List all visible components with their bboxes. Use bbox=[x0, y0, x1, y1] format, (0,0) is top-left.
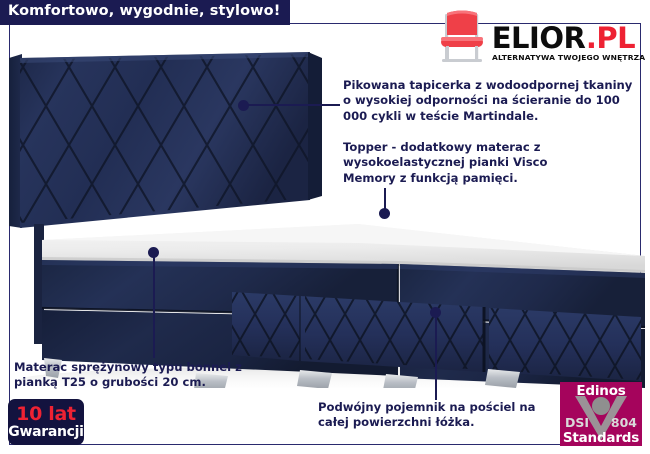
edinos-title: Edinos bbox=[560, 383, 642, 399]
callout-text-topper: Topper - dodatkowy materac z wysokoelast… bbox=[343, 140, 563, 186]
warranty-badge: 10 lat Gwarancji bbox=[8, 399, 84, 445]
edinos-code-left: DSI bbox=[565, 415, 589, 430]
headline-banner: Komfortowo, wygodnie, stylowo! bbox=[0, 0, 290, 25]
callout-line-mattress bbox=[153, 253, 155, 358]
red-chair-icon bbox=[436, 8, 488, 64]
callout-dot-topper bbox=[379, 208, 390, 219]
callout-line-storage bbox=[435, 313, 437, 400]
product-infographic: Komfortowo, wygodnie, stylowo! ELIOR.PL … bbox=[0, 0, 650, 454]
brand-name: ELIOR bbox=[492, 21, 586, 55]
callout-text-mattress: Materac sprężynowy typu bonnel z pianką … bbox=[14, 360, 264, 391]
callout-dot-storage bbox=[430, 307, 441, 318]
callout-text-upholstery: Pikowana tapicerka z wodoodpornej tkanin… bbox=[343, 78, 643, 124]
callout-dot-upholstery bbox=[238, 100, 249, 111]
warranty-years: 10 lat bbox=[16, 405, 76, 424]
brand-tagline: ALTERNATYWA TWOJEGO WNĘTRZA bbox=[492, 53, 645, 62]
edinos-code-right: 804 bbox=[611, 415, 637, 430]
callout-text-storage: Podwójny pojemnik na pościel na całej po… bbox=[318, 400, 568, 431]
brand-tld: .PL bbox=[586, 21, 635, 55]
callout-dot-mattress bbox=[148, 247, 159, 258]
brand-logo: ELIOR.PL ALTERNATYWA TWOJEGO WNĘTRZA bbox=[436, 6, 642, 64]
certification-badge: Edinos DSI 804 Standards bbox=[560, 382, 642, 446]
brand-wordmark: ELIOR.PL bbox=[492, 25, 635, 52]
warranty-label: Gwarancji bbox=[8, 425, 83, 440]
callout-line-upholstery bbox=[248, 104, 340, 106]
edinos-subtitle: Standards bbox=[560, 430, 642, 446]
